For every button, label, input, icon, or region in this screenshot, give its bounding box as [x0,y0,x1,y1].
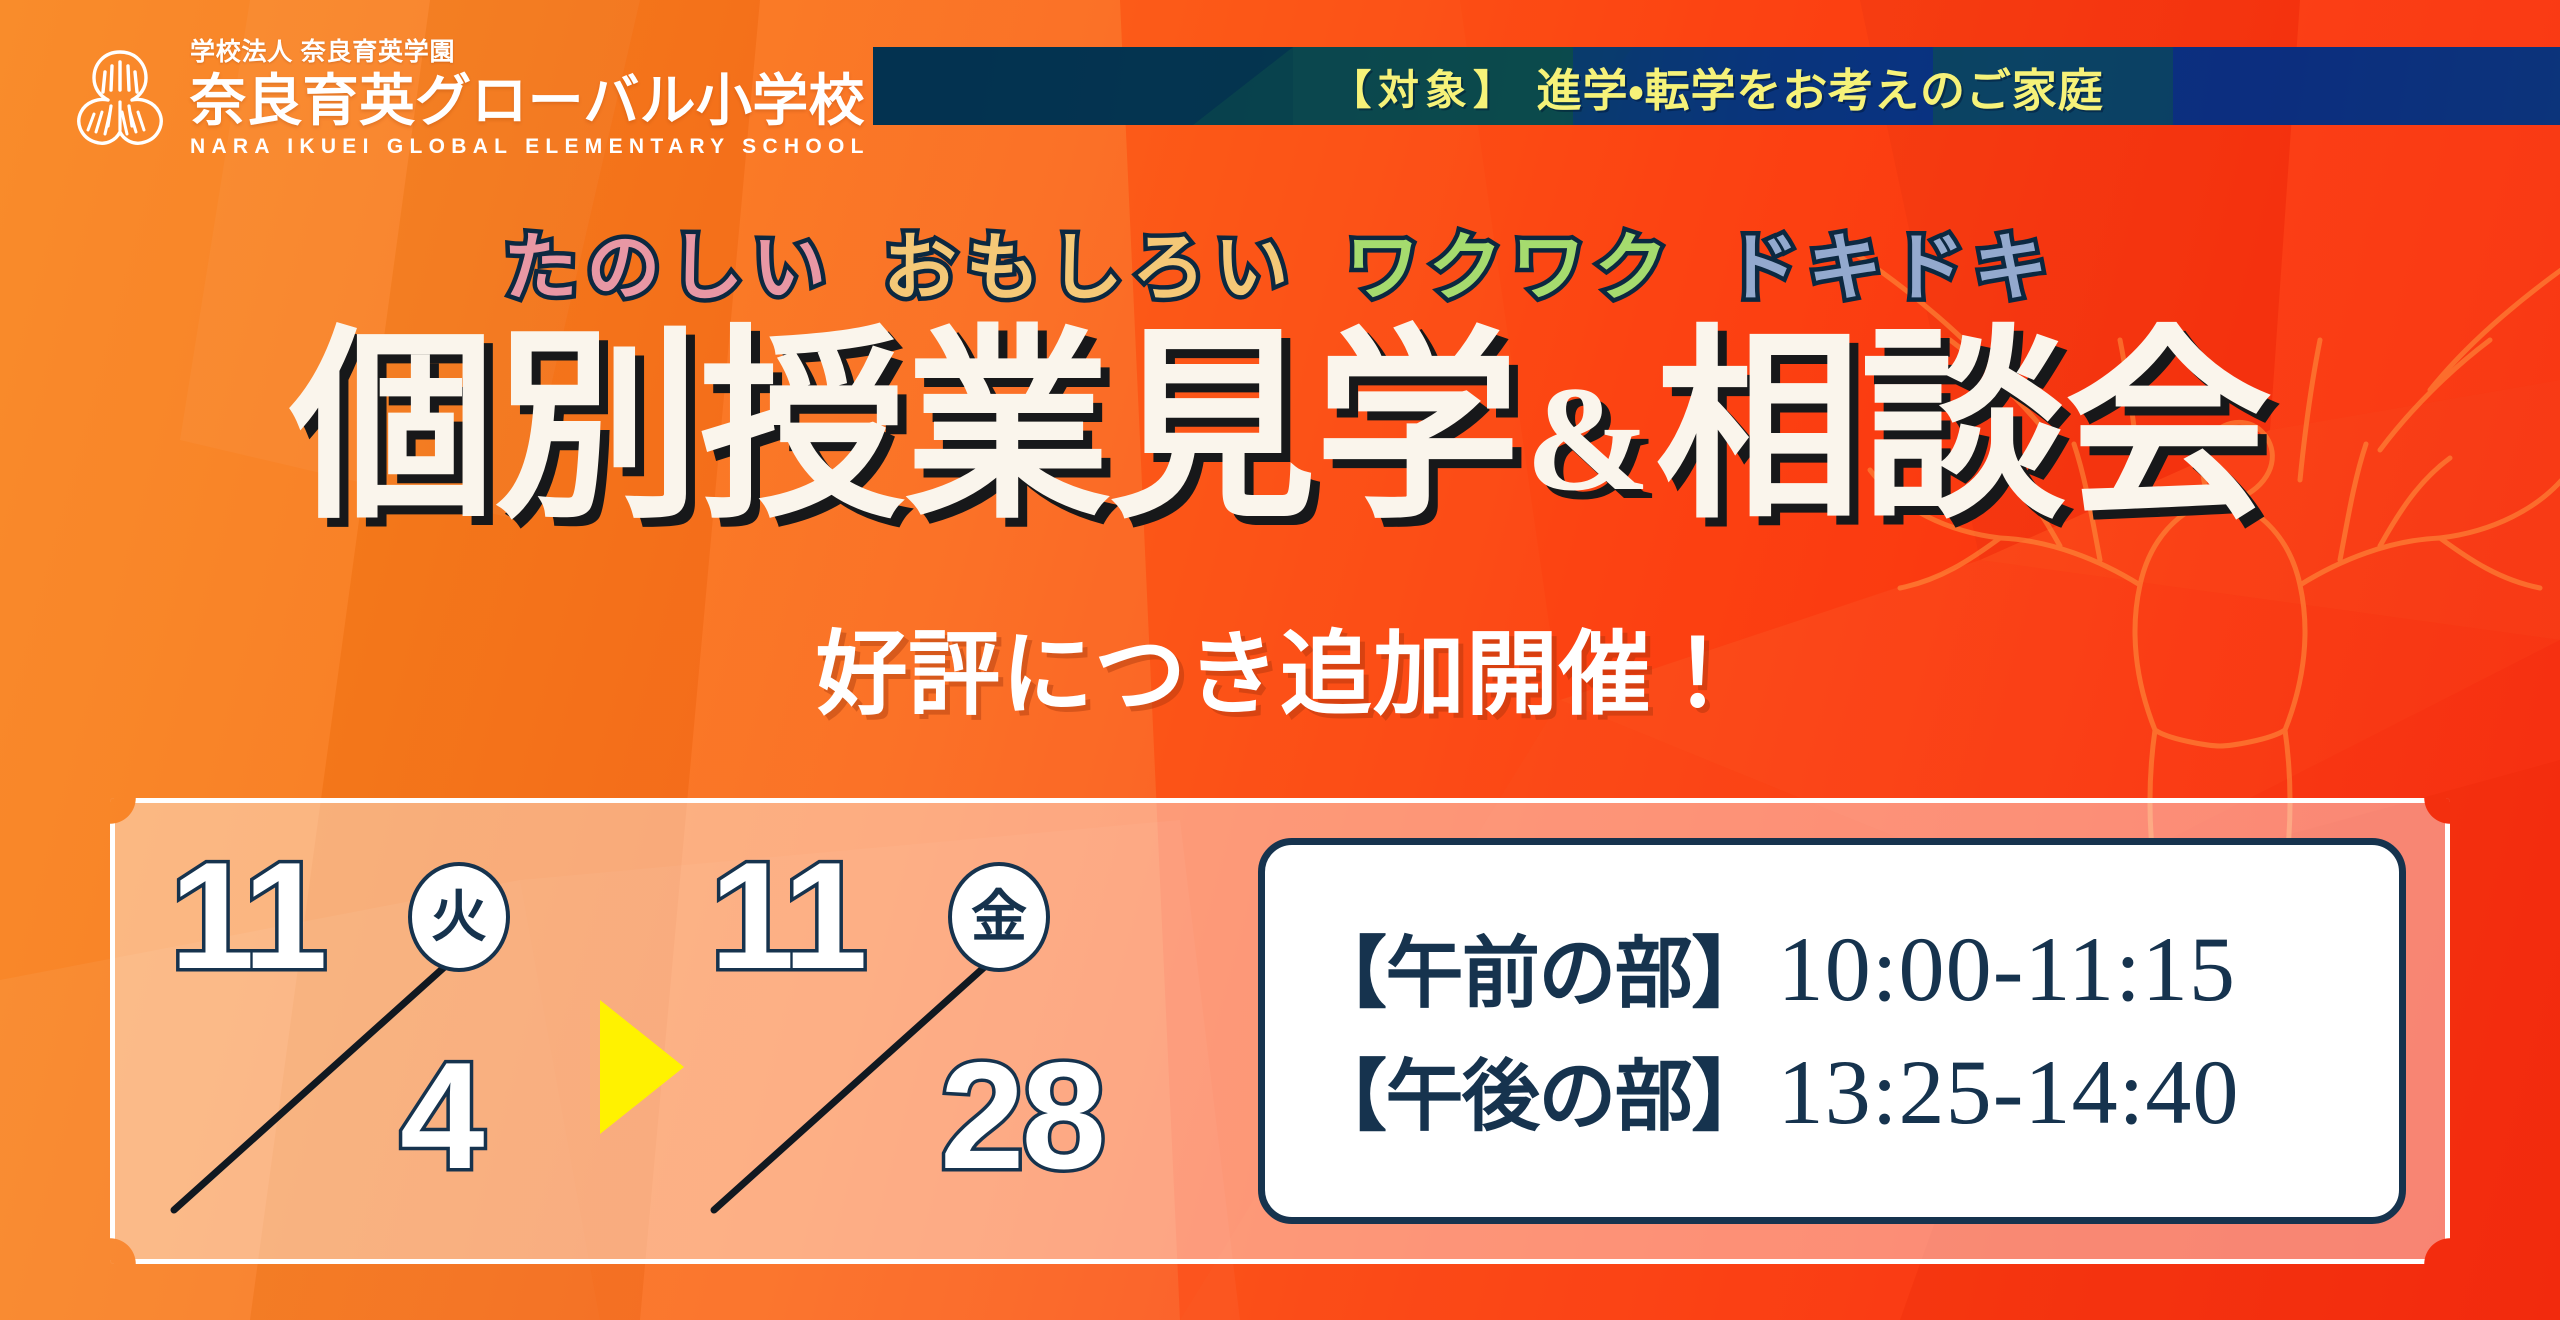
tagline-word-dokidoki: ドキドキ [1725,208,2057,315]
date-2-day: 28 [940,1040,1103,1192]
school-name-ja: 奈良育英グローバル小学校 [190,72,870,129]
session-morning-time: 10:00-11:15 [1778,915,2237,1024]
session-row-morning: 【午前の部】 10:00-11:15 [1309,915,2359,1024]
session-row-afternoon: 【午後の部】 13:25-14:40 [1309,1038,2359,1147]
paulownia-crest-icon [64,42,176,157]
date-1-month: 11 [170,840,325,992]
tagline-word-omoshiroi: おもしろい [883,208,1297,315]
target-audience-strip: 【対象】 進学・転学をお考えのご家庭 [873,47,2560,125]
school-name-en: NARA IKUEI GLOBAL ELEMENTARY SCHOOL [190,136,870,157]
right-triangle-arrow-icon [600,1000,684,1134]
target-body-label: 進学・転学をお考えのご家庭 [1537,54,2104,119]
main-title-part1: 個別授業見学 [290,312,1520,542]
promo-banner: 学校法人 奈良育英学園 奈良育英グローバル小学校 NARA IKUEI GLOB… [0,0,2560,1320]
main-title: 個別授業見学&相談会 [0,318,2560,536]
session-afternoon-time: 13:25-14:40 [1778,1038,2240,1147]
tagline-word-wakuwaku: ワクワク [1345,208,1677,315]
session-morning-label: 【午前の部】 [1309,927,1768,1019]
tagline-row: たのしい おもしろい ワクワク ドキドキ [0,208,2560,315]
date-1-day: 4 [400,1040,482,1192]
target-bracket-label: 【対象】 [1330,56,1520,116]
date-2-day-of-week: 金 [948,862,1050,972]
date-2-month: 11 [710,840,865,992]
target-audience-text: 【対象】 進学・転学をお考えのご家庭 [873,47,2560,125]
main-title-ampersand: & [1519,356,1655,522]
subtitle: 好評につき追加開催！ [0,600,2560,733]
school-logo: 学校法人 奈良育英学園 奈良育英グローバル小学校 NARA IKUEI GLOB… [64,40,870,157]
main-title-part2: 相談会 [1655,312,2270,542]
session-afternoon-label: 【午後の部】 [1309,1050,1768,1142]
date-block-1: 11 火 4 [150,840,670,1240]
tagline-word-tanoshii: たのしい [504,208,836,315]
school-corporation-label: 学校法人 奈良育英学園 [190,40,870,65]
date-1-day-of-week: 火 [408,862,510,972]
date-block-2: 11 金 28 [690,840,1210,1240]
session-times-panel: 【午前の部】 10:00-11:15 【午後の部】 13:25-14:40 [1258,838,2406,1224]
